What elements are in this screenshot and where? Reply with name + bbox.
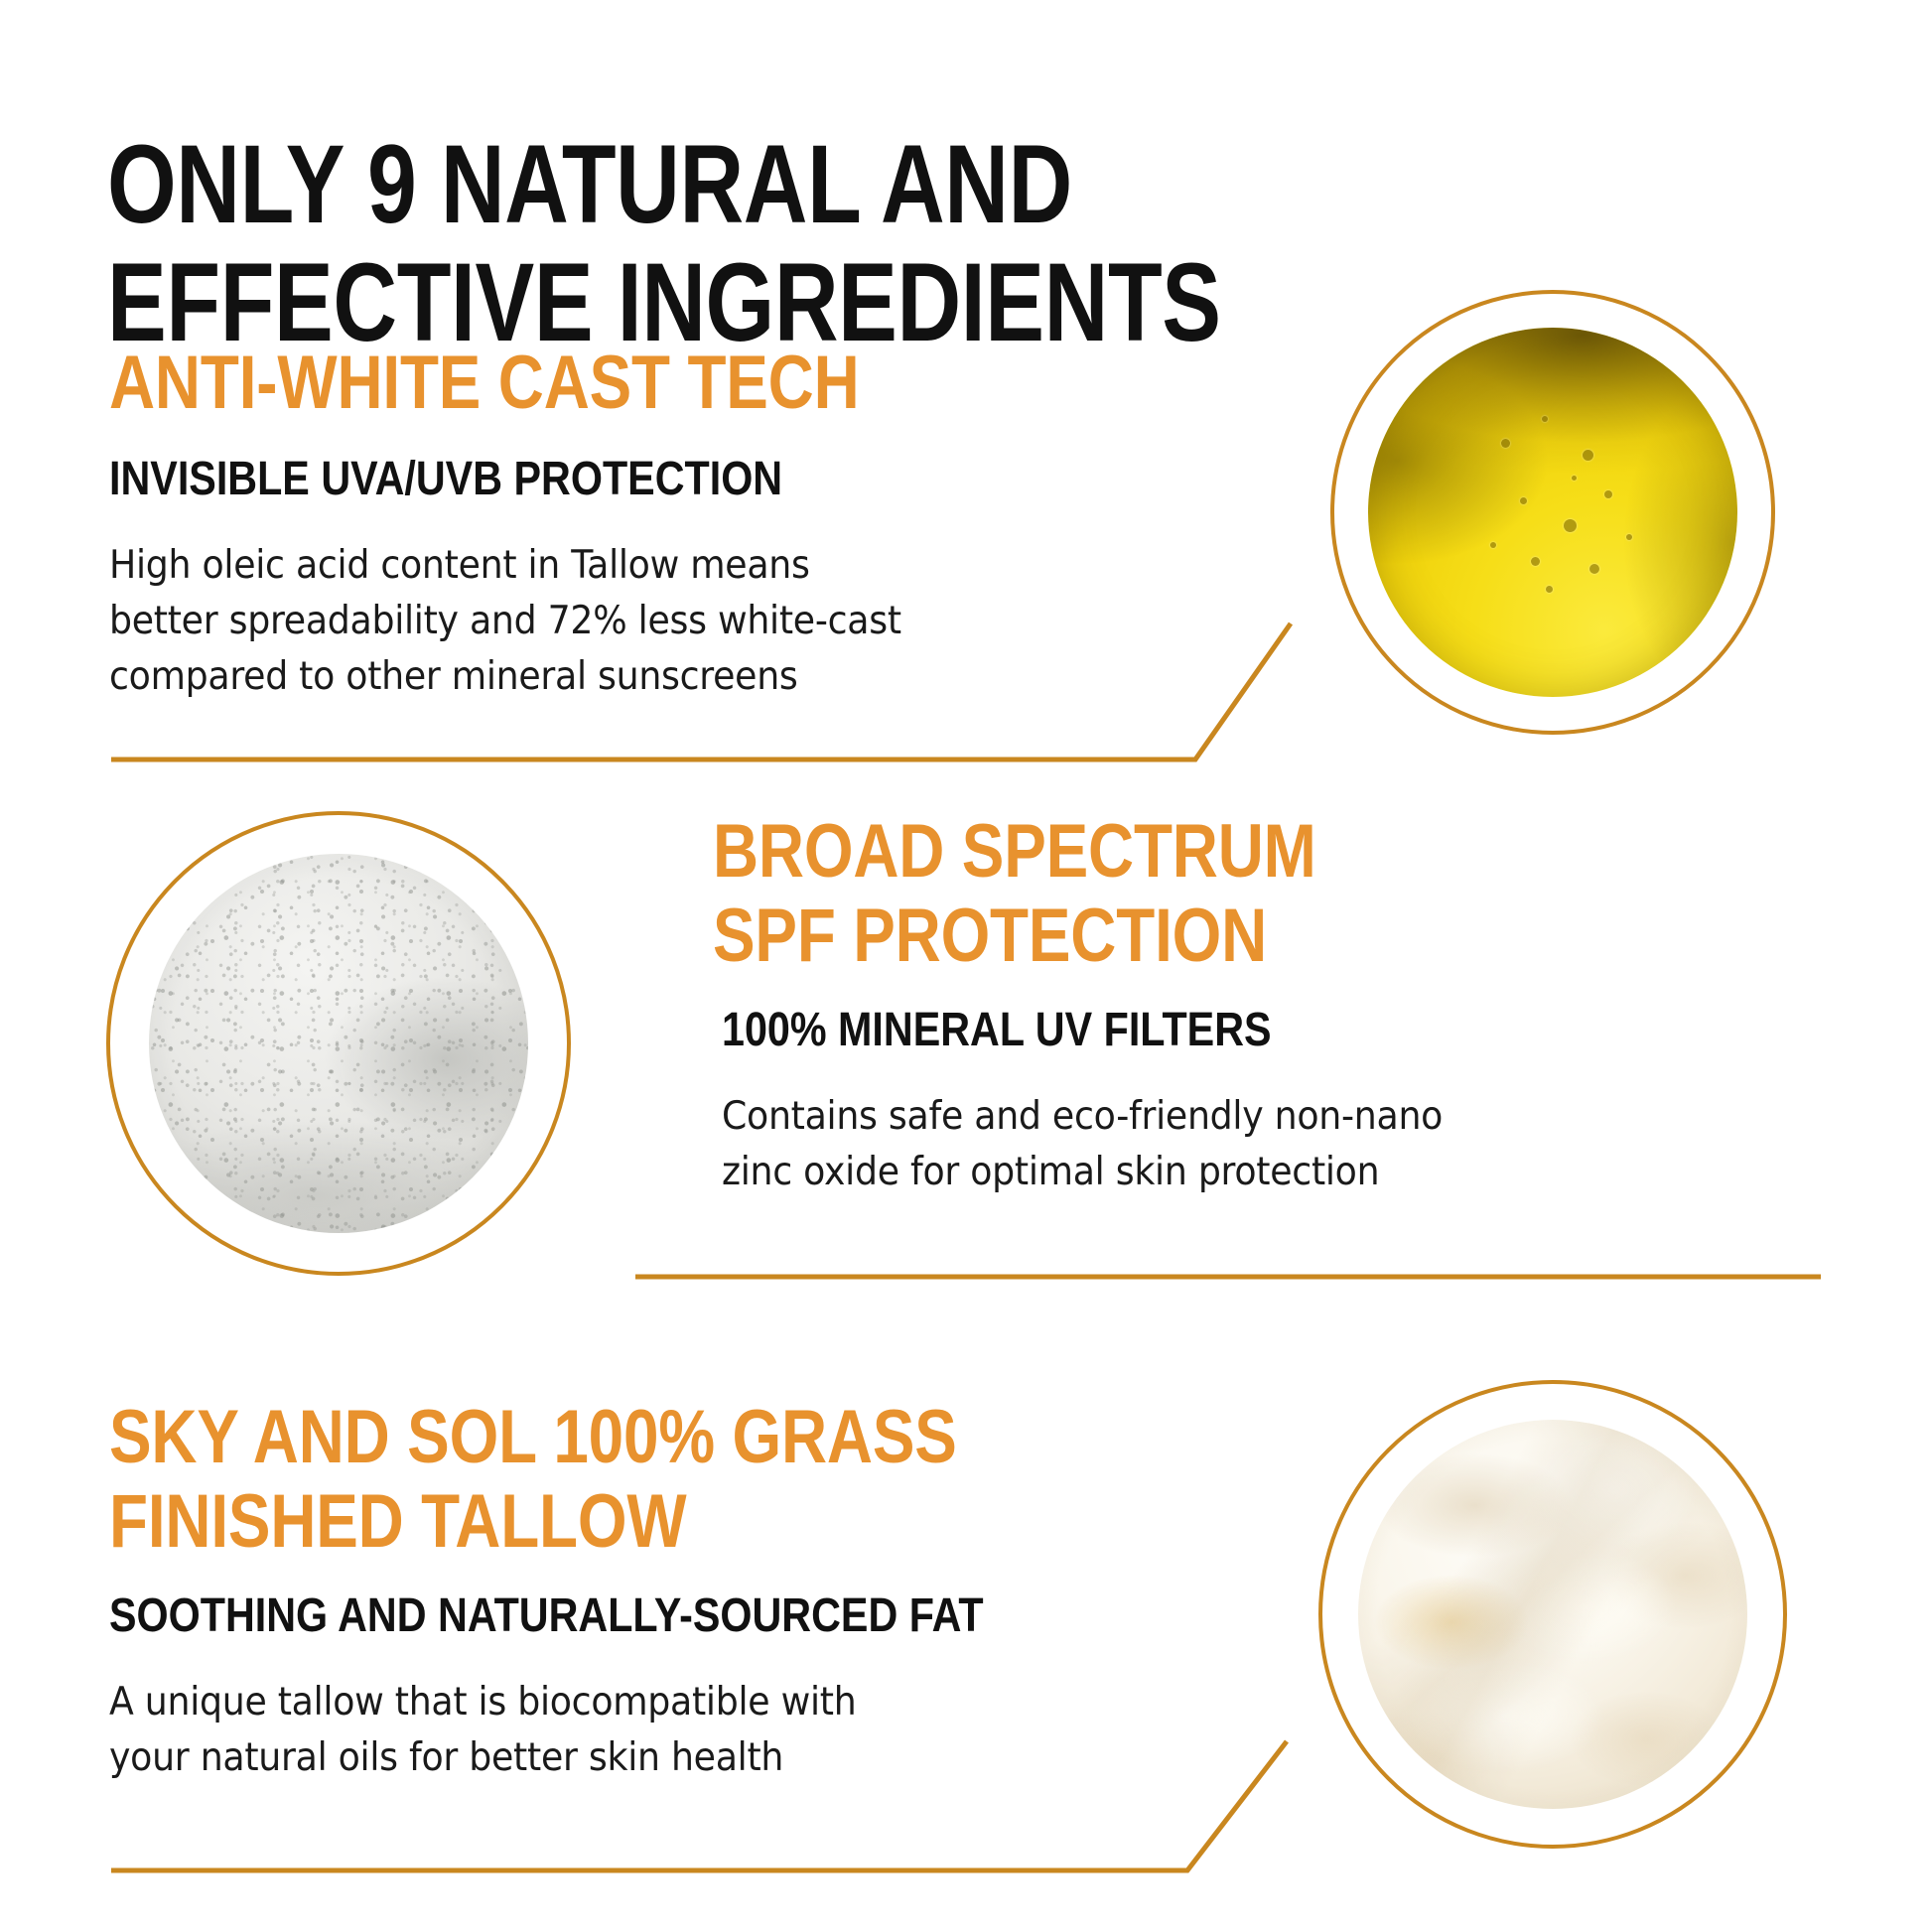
section-broad-spectrum-spf-protection: BROAD SPECTRUM SPF PROTECTION 100% MINER… xyxy=(713,809,1884,1200)
oil-bubble xyxy=(1572,476,1577,481)
section-1-subheading: INVISIBLE UVA/UVB PROTECTION xyxy=(109,451,1117,508)
oil-bubble xyxy=(1626,534,1632,540)
oil-bubble xyxy=(1583,450,1593,461)
section-3-subheading: SOOTHING AND NATURALLY-SOURCED FAT xyxy=(109,1587,1134,1645)
tallow-swatch xyxy=(1358,1420,1747,1809)
section-2-heading: BROAD SPECTRUM SPF PROTECTION xyxy=(713,809,1697,978)
oil-bubble xyxy=(1520,497,1527,504)
oil-bubble xyxy=(1490,542,1496,548)
zinc-oxide-powder-swatch xyxy=(149,854,528,1233)
oil-bubble xyxy=(1531,557,1540,566)
oil-bubble xyxy=(1564,519,1577,532)
infographic-page: ONLY 9 NATURAL AND EFFECTIVE INGREDIENTS… xyxy=(0,0,1932,1932)
section-3-body: A unique tallow that is biocompatible wi… xyxy=(109,1675,1217,1786)
section-1-body: High oleic acid content in Tallow means … xyxy=(109,538,1198,705)
section-3-heading: SKY AND SOL 100% GRASS FINISHED TALLOW xyxy=(109,1395,1110,1564)
oil-bubble xyxy=(1589,564,1599,574)
section-anti-white-cast-tech: ANTI-WHITE CAST TECH INVISIBLE UVA/UVB P… xyxy=(109,341,1281,705)
section-sky-and-sol-grass-finished-tallow: SKY AND SOL 100% GRASS FINISHED TALLOW S… xyxy=(109,1395,1301,1786)
oil-bubble xyxy=(1542,416,1548,422)
olive-oil-swatch xyxy=(1368,328,1737,697)
oil-bubble xyxy=(1501,439,1510,448)
oil-bubble xyxy=(1546,586,1553,593)
section-1-heading: ANTI-WHITE CAST TECH xyxy=(109,341,1093,425)
oil-bubble xyxy=(1604,490,1612,498)
section-2-body: Contains safe and eco-friendly non-nano … xyxy=(722,1089,1803,1200)
section-2-subheading: 100% MINERAL UV FILTERS xyxy=(722,1002,1722,1059)
page-title: ONLY 9 NATURAL AND EFFECTIVE INGREDIENTS xyxy=(107,126,1235,361)
